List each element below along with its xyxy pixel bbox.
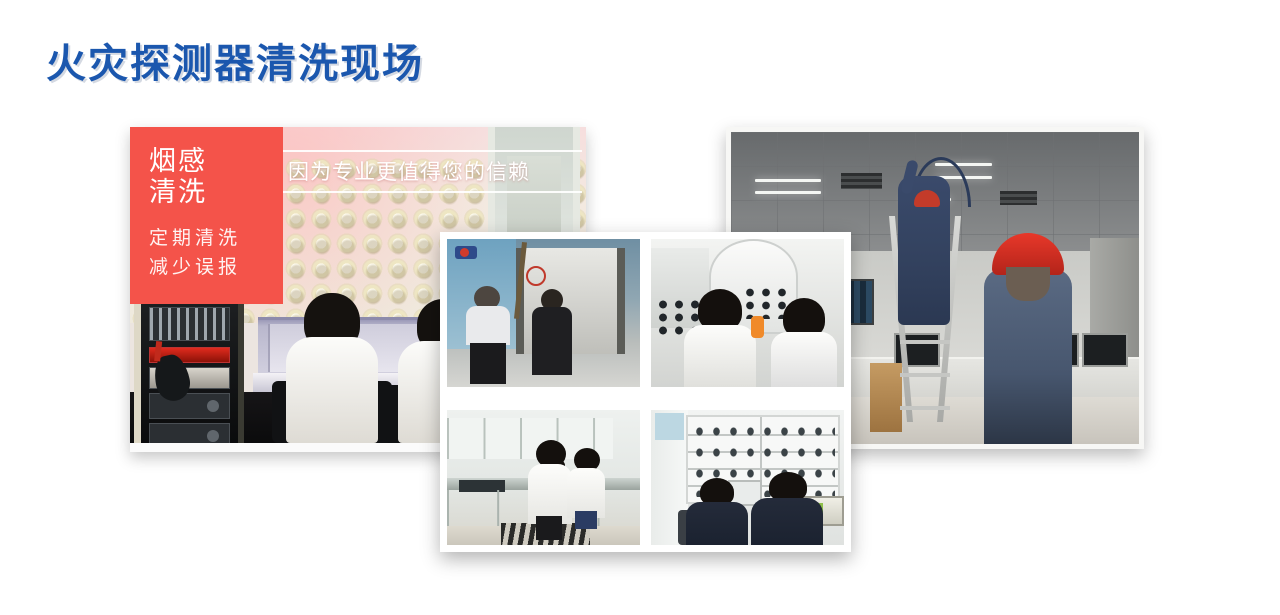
lab-coat [771, 332, 837, 387]
worker-on-ladder [898, 176, 950, 326]
lab-coat [684, 325, 756, 387]
rack-panel-keypad [149, 307, 230, 341]
photo-collage [440, 232, 851, 552]
collage-cell-bottom-right [651, 410, 844, 545]
page-title: 火灾探测器清洗现场 [46, 31, 424, 89]
ceiling-light [755, 191, 820, 194]
trousers [470, 343, 506, 384]
badge-subtitle-line1: 定期清洗 [149, 225, 283, 253]
technician-seated-right [751, 472, 823, 545]
worker-with-helmet [984, 269, 1072, 444]
wall-sign-icon [455, 246, 477, 259]
equipment-rack [134, 301, 244, 443]
person-foreground [466, 286, 510, 384]
technician-right [771, 298, 837, 387]
badge-title-line2: 清洗 [149, 177, 283, 208]
rack-panel-meter-b [149, 423, 230, 443]
head [1006, 267, 1050, 301]
tool-handle [751, 316, 764, 338]
left-photo-caption: 因为专业更值得您的信赖 [282, 150, 582, 193]
caption-rule-bottom [282, 191, 582, 193]
lab-staff-seated [286, 293, 378, 443]
ladder-rung [900, 373, 950, 377]
collage-cell-bottom-left [447, 410, 640, 545]
badge-title-line1: 烟感 [149, 146, 283, 177]
technician-front [528, 440, 572, 540]
caption-text: 因为专业更值得您的信赖 [282, 152, 582, 191]
page-root: 火灾探测器清洗现场 [0, 0, 1280, 615]
ceiling-vent [1000, 191, 1037, 205]
ceiling-light [755, 179, 820, 182]
technician-seated-left [686, 478, 748, 546]
work-uniform [686, 502, 748, 546]
badge-subtitle-line2: 减少误报 [149, 254, 283, 282]
ladder-rung [900, 340, 950, 344]
legs [536, 516, 562, 540]
person-background [532, 289, 572, 375]
ladder-rung [900, 406, 950, 410]
uniform [532, 307, 572, 375]
wall-seal-icon [526, 266, 546, 286]
collage-cell-top-right [651, 239, 844, 387]
window [655, 413, 684, 440]
ceiling-vent [841, 173, 882, 189]
shirt [466, 306, 510, 345]
lab-coat [528, 464, 572, 524]
legs [575, 511, 597, 529]
red-helmet-icon [914, 190, 940, 207]
rack-panel-meter-a [149, 393, 230, 419]
console-screen [1082, 333, 1128, 367]
work-uniform [751, 498, 823, 545]
technician-back [567, 448, 605, 529]
promo-badge: 烟感 清洗 定期清洗 减少误报 [130, 127, 283, 304]
technician-left [684, 289, 756, 387]
lab-coat [286, 337, 378, 443]
collage-cell-top-left [447, 239, 640, 387]
